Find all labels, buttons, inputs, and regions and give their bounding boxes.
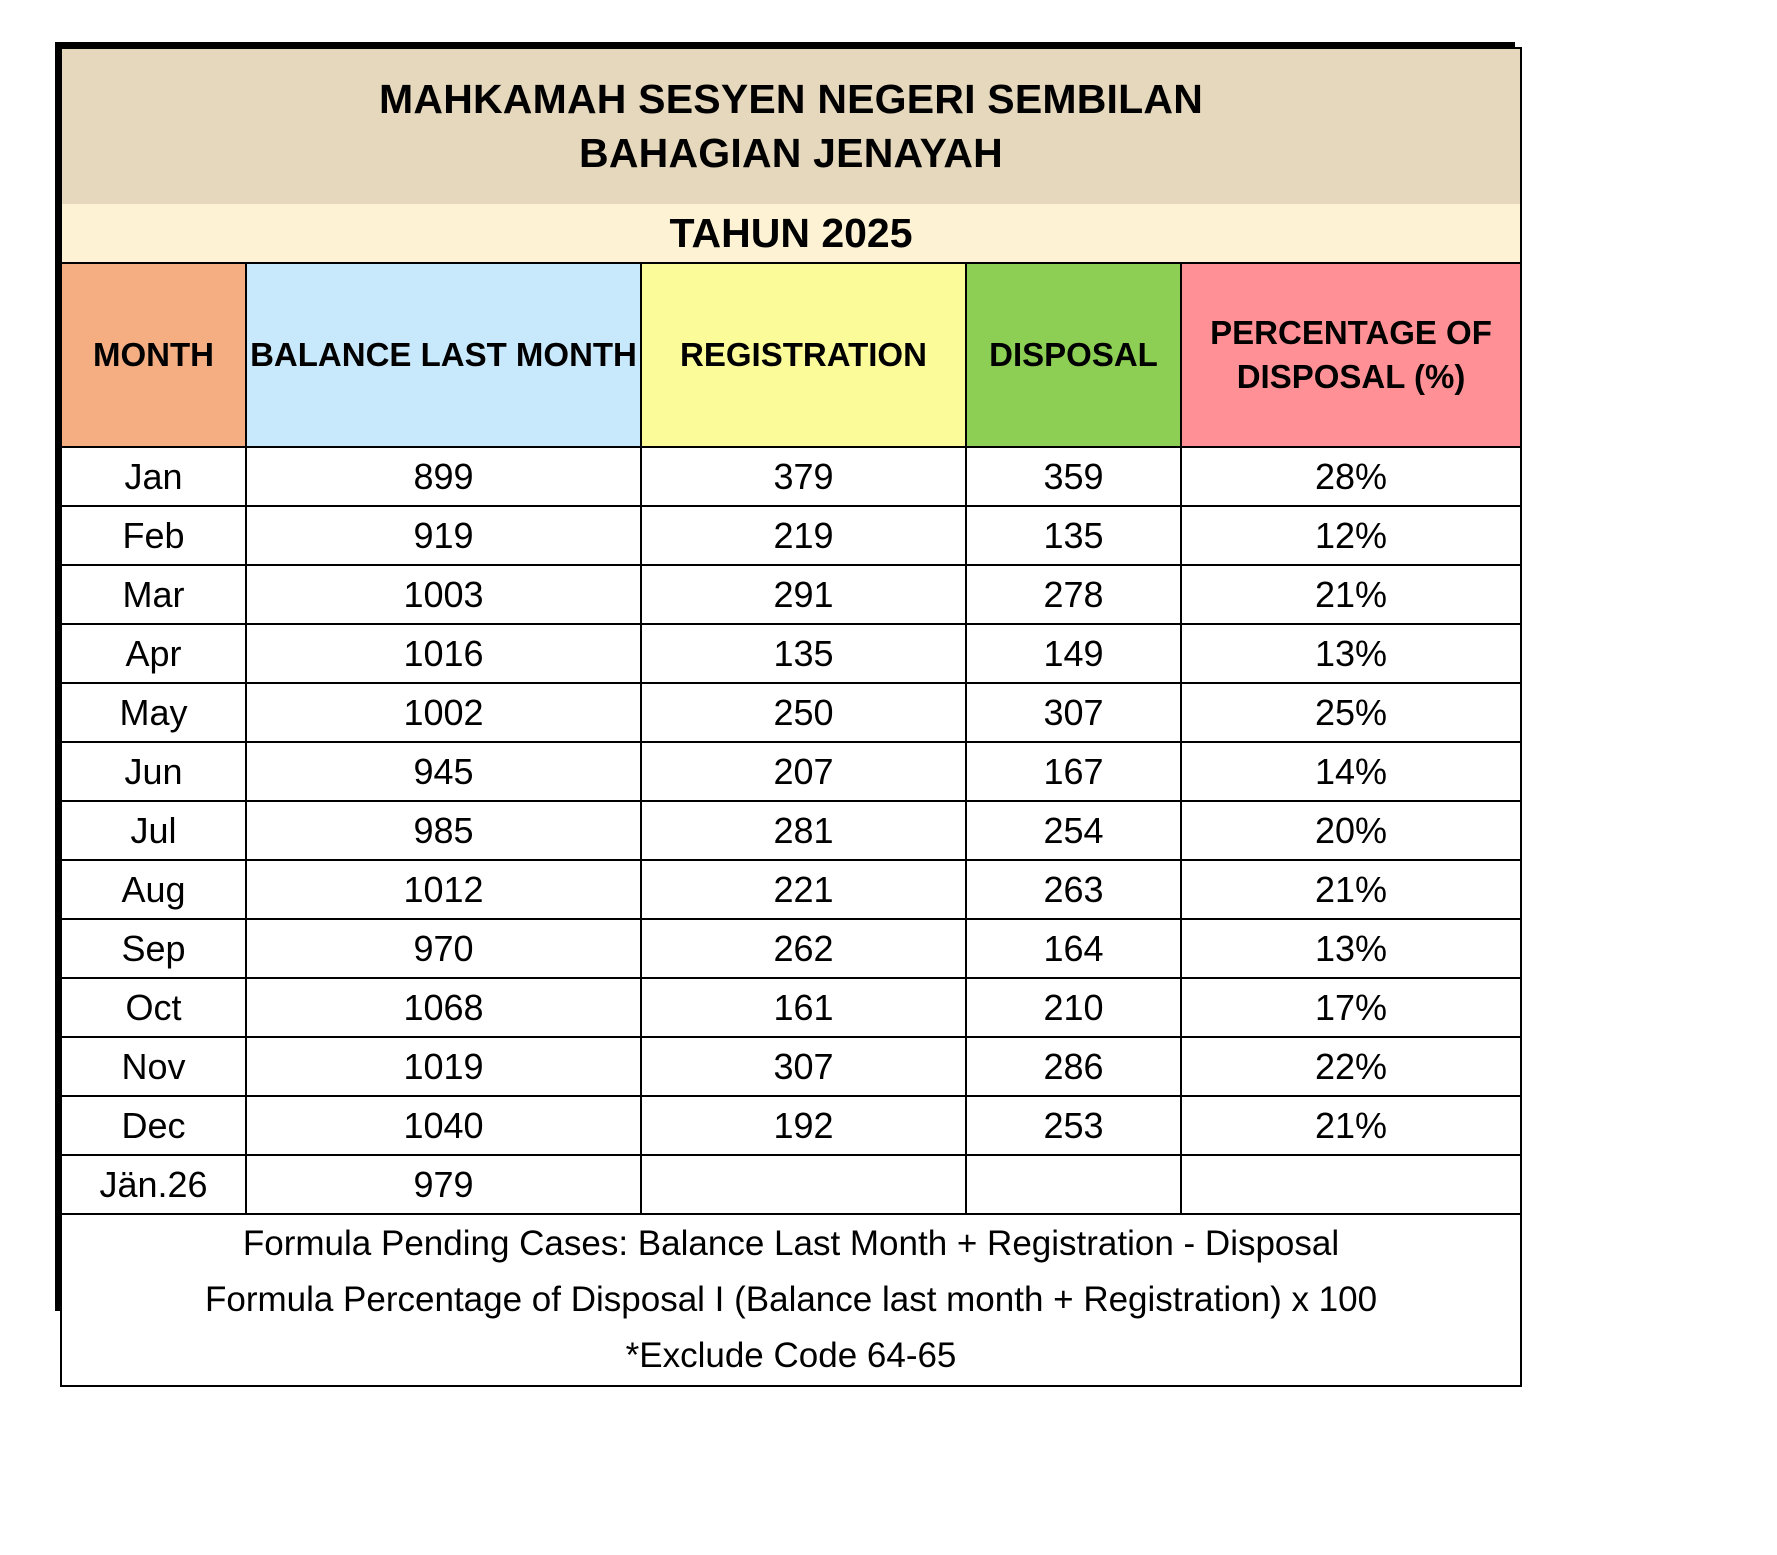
cell-balance-last-month: 979: [246, 1155, 641, 1214]
cell-month: Jul: [61, 801, 246, 860]
cell-registration: 379: [641, 447, 966, 506]
table-row: Jun 945 207 167 14%: [61, 742, 1521, 801]
note-formula-percentage-of-disposal: Formula Percentage of Disposal I (Balanc…: [62, 1272, 1520, 1328]
cell-disposal: 286: [966, 1037, 1181, 1096]
cell-percentage-of-disposal: 25%: [1181, 683, 1521, 742]
cell-registration: 135: [641, 624, 966, 683]
cell-registration: 307: [641, 1037, 966, 1096]
cell-registration: 207: [641, 742, 966, 801]
year-row: TAHUN 2025: [61, 204, 1521, 263]
cell-percentage-of-disposal: 13%: [1181, 624, 1521, 683]
cell-disposal: [966, 1155, 1181, 1214]
cell-disposal: 135: [966, 506, 1181, 565]
cell-registration: 192: [641, 1096, 966, 1155]
cell-percentage-of-disposal: 21%: [1181, 565, 1521, 624]
cell-balance-last-month: 1003: [246, 565, 641, 624]
cell-balance-last-month: 1019: [246, 1037, 641, 1096]
cell-percentage-of-disposal: 20%: [1181, 801, 1521, 860]
cell-percentage-of-disposal: 13%: [1181, 919, 1521, 978]
cell-disposal: 254: [966, 801, 1181, 860]
cell-balance-last-month: 1040: [246, 1096, 641, 1155]
table-row: Mar 1003 291 278 21%: [61, 565, 1521, 624]
table-row: Feb 919 219 135 12%: [61, 506, 1521, 565]
cell-balance-last-month: 899: [246, 447, 641, 506]
cell-disposal: 253: [966, 1096, 1181, 1155]
cell-disposal: 307: [966, 683, 1181, 742]
cell-balance-last-month: 919: [246, 506, 641, 565]
report-page: MAHKAMAH SESYEN NEGERI SEMBILAN BAHAGIAN…: [0, 0, 1777, 1555]
cell-registration: 219: [641, 506, 966, 565]
report-title-line-1: MAHKAMAH SESYEN NEGERI SEMBILAN: [379, 76, 1203, 122]
cell-registration: 291: [641, 565, 966, 624]
table-row: May 1002 250 307 25%: [61, 683, 1521, 742]
cell-registration: 281: [641, 801, 966, 860]
cell-balance-last-month: 970: [246, 919, 641, 978]
cell-month: Jan: [61, 447, 246, 506]
cell-registration: 161: [641, 978, 966, 1037]
cell-percentage-of-disposal: 12%: [1181, 506, 1521, 565]
cell-month: Sep: [61, 919, 246, 978]
cell-percentage-of-disposal: [1181, 1155, 1521, 1214]
cell-registration: 262: [641, 919, 966, 978]
cell-month: Apr: [61, 624, 246, 683]
cell-month: Jun: [61, 742, 246, 801]
table-row: Oct 1068 161 210 17%: [61, 978, 1521, 1037]
column-header-month: MONTH: [61, 263, 246, 447]
cell-percentage-of-disposal: 22%: [1181, 1037, 1521, 1096]
cell-month: Dec: [61, 1096, 246, 1155]
column-header-balance-last-month: BALANCE LAST MONTH: [246, 263, 641, 447]
report-title: MAHKAMAH SESYEN NEGERI SEMBILAN BAHAGIAN…: [61, 48, 1521, 204]
column-header-row: MONTH BALANCE LAST MONTH REGISTRATION DI…: [61, 263, 1521, 447]
report-year: TAHUN 2025: [61, 204, 1521, 263]
title-row: MAHKAMAH SESYEN NEGERI SEMBILAN BAHAGIAN…: [61, 48, 1521, 204]
table-row: Apr 1016 135 149 13%: [61, 624, 1521, 683]
cell-registration: [641, 1155, 966, 1214]
table-row: Sep 970 262 164 13%: [61, 919, 1521, 978]
cell-balance-last-month: 1012: [246, 860, 641, 919]
column-header-disposal: DISPOSAL: [966, 263, 1181, 447]
table-row: Aug 1012 221 263 21%: [61, 860, 1521, 919]
column-header-percentage-of-disposal: PERCENTAGE OF DISPOSAL (%): [1181, 263, 1521, 447]
cell-balance-last-month: 1068: [246, 978, 641, 1037]
cell-month: Feb: [61, 506, 246, 565]
cell-percentage-of-disposal: 21%: [1181, 1096, 1521, 1155]
table-row: Nov 1019 307 286 22%: [61, 1037, 1521, 1096]
cell-disposal: 359: [966, 447, 1181, 506]
cell-month: Nov: [61, 1037, 246, 1096]
cell-balance-last-month: 1016: [246, 624, 641, 683]
cell-disposal: 167: [966, 742, 1181, 801]
table-body: MAHKAMAH SESYEN NEGERI SEMBILAN BAHAGIAN…: [61, 48, 1521, 1386]
report-table-frame: MAHKAMAH SESYEN NEGERI SEMBILAN BAHAGIAN…: [55, 42, 1515, 1311]
column-header-registration: REGISTRATION: [641, 263, 966, 447]
table-row: Dec 1040 192 253 21%: [61, 1096, 1521, 1155]
cell-balance-last-month: 945: [246, 742, 641, 801]
cell-month: Aug: [61, 860, 246, 919]
cell-disposal: 278: [966, 565, 1181, 624]
cell-disposal: 210: [966, 978, 1181, 1037]
cell-percentage-of-disposal: 21%: [1181, 860, 1521, 919]
notes-row: Formula Pending Cases: Balance Last Mont…: [61, 1214, 1521, 1386]
cell-balance-last-month: 985: [246, 801, 641, 860]
cell-disposal: 149: [966, 624, 1181, 683]
cell-disposal: 263: [966, 860, 1181, 919]
note-exclude-code: *Exclude Code 64-65: [62, 1328, 1520, 1384]
note-formula-pending-cases: Formula Pending Cases: Balance Last Mont…: [62, 1216, 1520, 1272]
cell-registration: 221: [641, 860, 966, 919]
cell-disposal: 164: [966, 919, 1181, 978]
cell-month: Mar: [61, 565, 246, 624]
table-row: Jul 985 281 254 20%: [61, 801, 1521, 860]
formula-notes: Formula Pending Cases: Balance Last Mont…: [61, 1214, 1521, 1386]
cell-month: May: [61, 683, 246, 742]
table-row: Jän.26 979: [61, 1155, 1521, 1214]
cell-balance-last-month: 1002: [246, 683, 641, 742]
cell-percentage-of-disposal: 14%: [1181, 742, 1521, 801]
cell-percentage-of-disposal: 17%: [1181, 978, 1521, 1037]
cell-month: Jän.26: [61, 1155, 246, 1214]
cell-registration: 250: [641, 683, 966, 742]
cell-month: Oct: [61, 978, 246, 1037]
cell-percentage-of-disposal: 28%: [1181, 447, 1521, 506]
table-row: Jan 899 379 359 28%: [61, 447, 1521, 506]
monthly-statistics-table: MAHKAMAH SESYEN NEGERI SEMBILAN BAHAGIAN…: [60, 47, 1522, 1387]
report-title-line-2: BAHAGIAN JENAYAH: [62, 127, 1520, 180]
